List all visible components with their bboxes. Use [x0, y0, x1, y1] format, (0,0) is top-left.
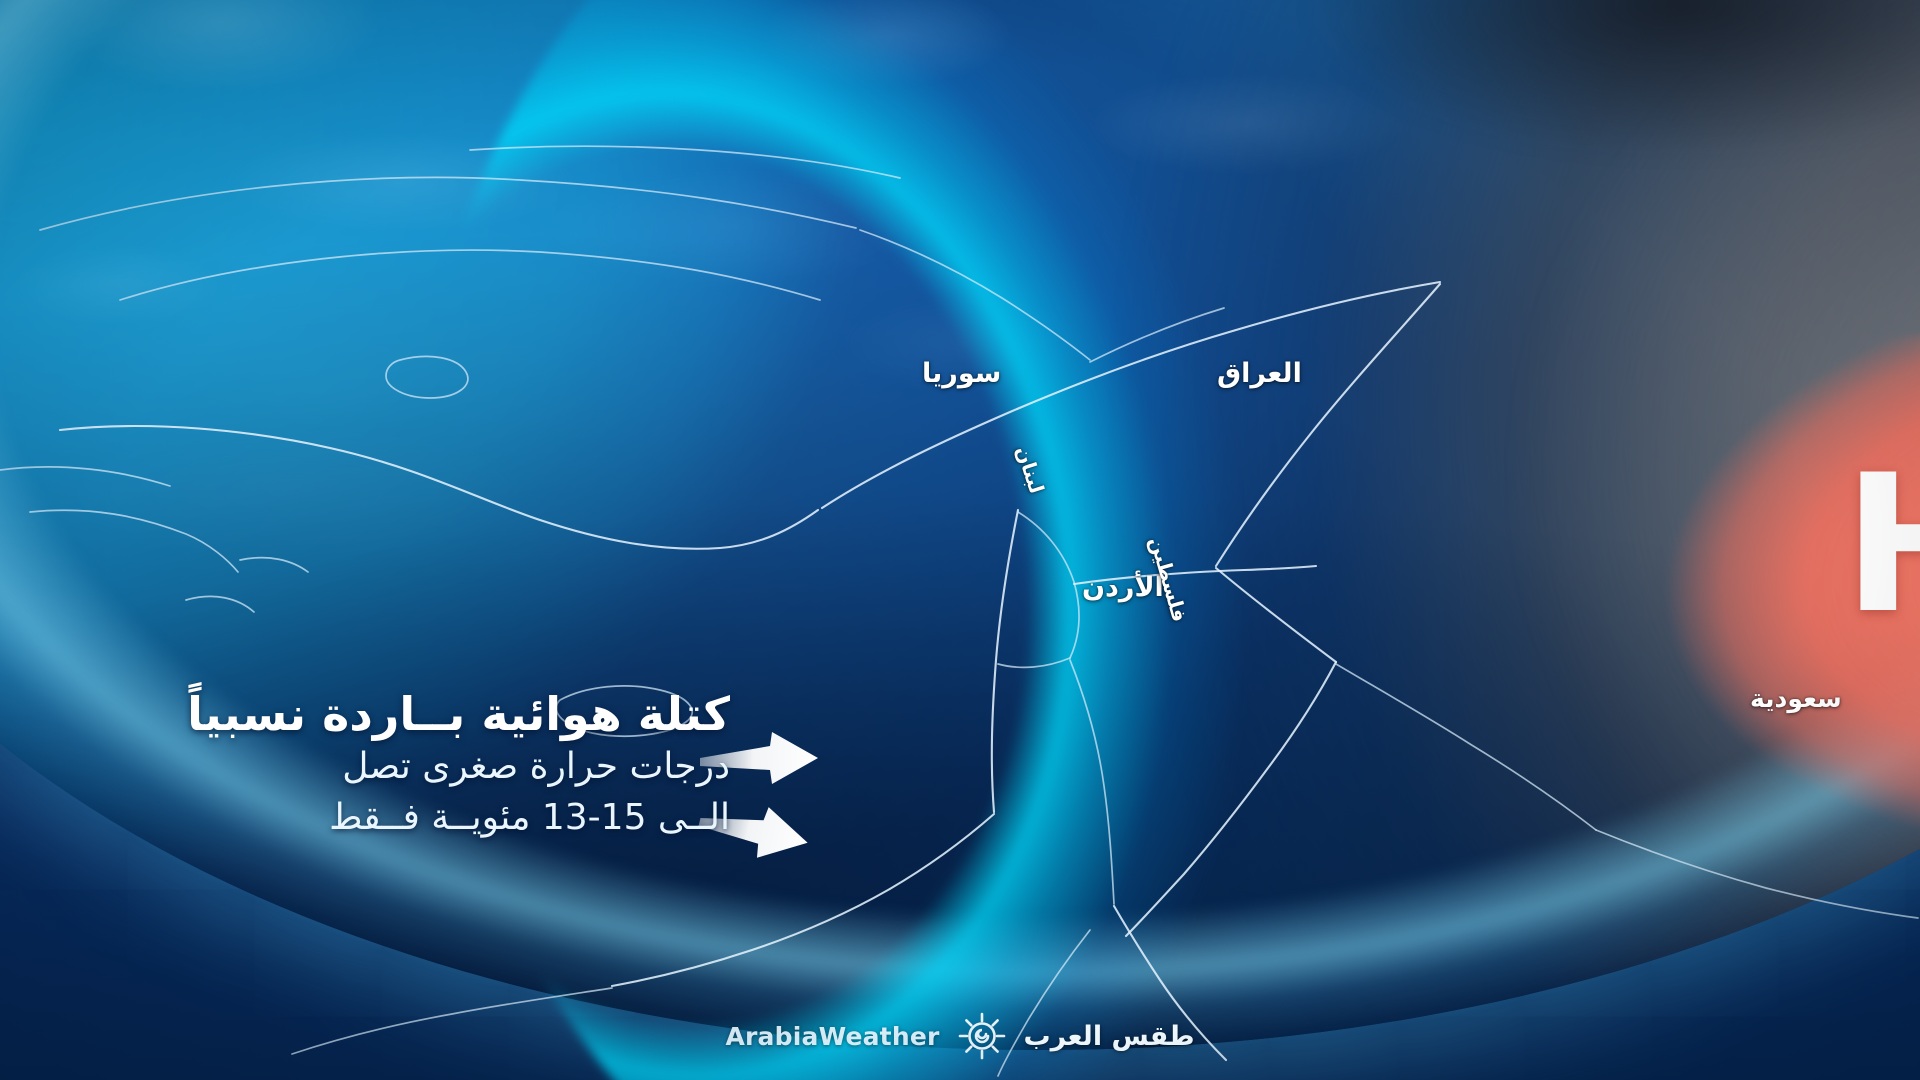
branding-footer: ArabiaWeather طقس العرب: [0, 1010, 1920, 1062]
weather-map-graphic: سوريا العراق الأردن لبنان فلسطين سعودية …: [0, 0, 1920, 1080]
label-syria: سوريا: [922, 358, 1001, 389]
label-saudi-arabia: سعودية: [1750, 684, 1842, 713]
brand-name-arabic: طقس العرب: [1024, 1021, 1195, 1052]
sun-spiral-icon: [956, 1010, 1008, 1062]
brand-name-english: ArabiaWeather: [725, 1022, 939, 1051]
high-pressure-symbol: H: [1843, 450, 1920, 640]
headline-line-1: كتلة هوائية بــاردة نسبياً: [0, 690, 740, 738]
headline-block: كتلة هوائية بــاردة نسبياً درجات حرارة ص…: [0, 690, 740, 840]
headline-line-3: الــى 15-13 مئويــة فــقط: [0, 795, 740, 840]
headline-line-2: درجات حرارة صغرى تصل: [0, 744, 740, 789]
cold-air-direction-arrows: [0, 0, 1920, 1080]
label-iraq: العراق: [1217, 358, 1302, 389]
label-jordan: الأردن: [1082, 572, 1164, 603]
